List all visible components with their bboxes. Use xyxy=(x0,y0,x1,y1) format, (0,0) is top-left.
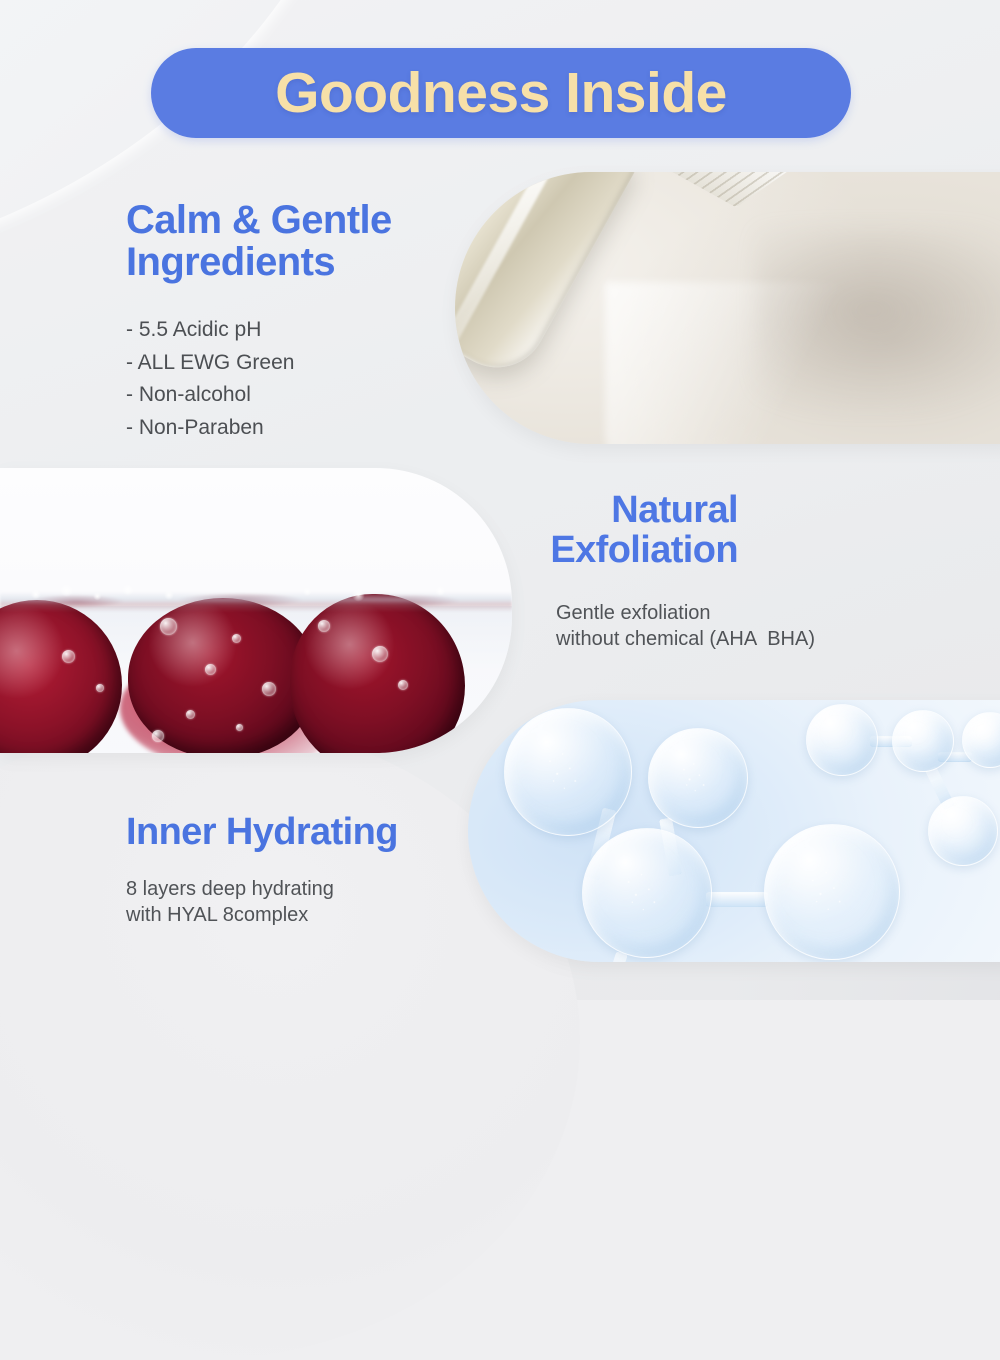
bubble xyxy=(62,650,75,663)
list-item: - Non-Paraben xyxy=(126,412,294,445)
bubble xyxy=(372,646,388,662)
molecule-bubble xyxy=(928,796,998,866)
molecule-bubble xyxy=(582,828,712,958)
bubble-sparkle xyxy=(601,847,693,939)
ingredient-bullet-list: - 5.5 Acidic pH - ALL EWG Green - Non-al… xyxy=(126,314,294,444)
section-image-calm-gentle xyxy=(455,172,1000,444)
bubble xyxy=(236,724,243,731)
bubble-sparkle xyxy=(523,727,614,818)
molecule-bubble xyxy=(764,824,900,960)
bubble xyxy=(152,730,164,742)
section-title-inner-hydrating: Inner Hydrating xyxy=(126,813,398,853)
section-body-inner-hydrating: 8 layers deep hydrating with HYAL 8compl… xyxy=(126,876,334,929)
body-line-1: Gentle exfoliation xyxy=(556,600,815,626)
section-body-natural-exfoliation: Gentle exfoliation without chemical (AHA… xyxy=(556,600,815,653)
molecule-bubble xyxy=(648,728,748,828)
bubble-sparkle xyxy=(663,743,734,814)
cream-swirl xyxy=(605,282,935,444)
list-item: - Non-alcohol xyxy=(126,379,294,412)
section-image-natural-exfoliation xyxy=(0,468,512,753)
bubble xyxy=(96,684,104,692)
section-image-inner-hydrating xyxy=(468,700,1000,962)
section-title-line-2: Ingredients xyxy=(126,242,392,284)
section-title-natural-exfoliation: Natural Exfoliation xyxy=(462,491,738,570)
bubble xyxy=(232,634,241,643)
bubble xyxy=(186,710,195,719)
body-line-1: 8 layers deep hydrating xyxy=(126,876,334,902)
section-title-line-2: Exfoliation xyxy=(462,531,738,571)
list-item: - ALL EWG Green xyxy=(126,347,294,380)
section-title-calm-gentle: Calm & Gentle Ingredients xyxy=(126,200,392,283)
bubble xyxy=(205,664,216,675)
bubble xyxy=(318,620,330,632)
molecule-bubble xyxy=(806,704,878,776)
section-title-line-1: Calm & Gentle xyxy=(126,200,392,242)
body-line-2: without chemical (AHA BHA) xyxy=(556,626,815,652)
page-title: Goodness Inside xyxy=(275,65,727,122)
bubble xyxy=(262,682,276,696)
body-line-2: with HYAL 8complex xyxy=(126,902,334,928)
foam-bubbles xyxy=(0,580,512,606)
section-title-line-1: Natural xyxy=(462,491,738,531)
molecule-bubble xyxy=(504,708,632,836)
list-item: - 5.5 Acidic pH xyxy=(126,314,294,347)
bubble xyxy=(160,618,177,635)
molecule-bond xyxy=(706,892,768,907)
title-banner: Goodness Inside xyxy=(151,48,851,138)
molecule-bubble xyxy=(892,710,954,772)
bubble-sparkle xyxy=(784,844,881,941)
bubble xyxy=(398,680,408,690)
